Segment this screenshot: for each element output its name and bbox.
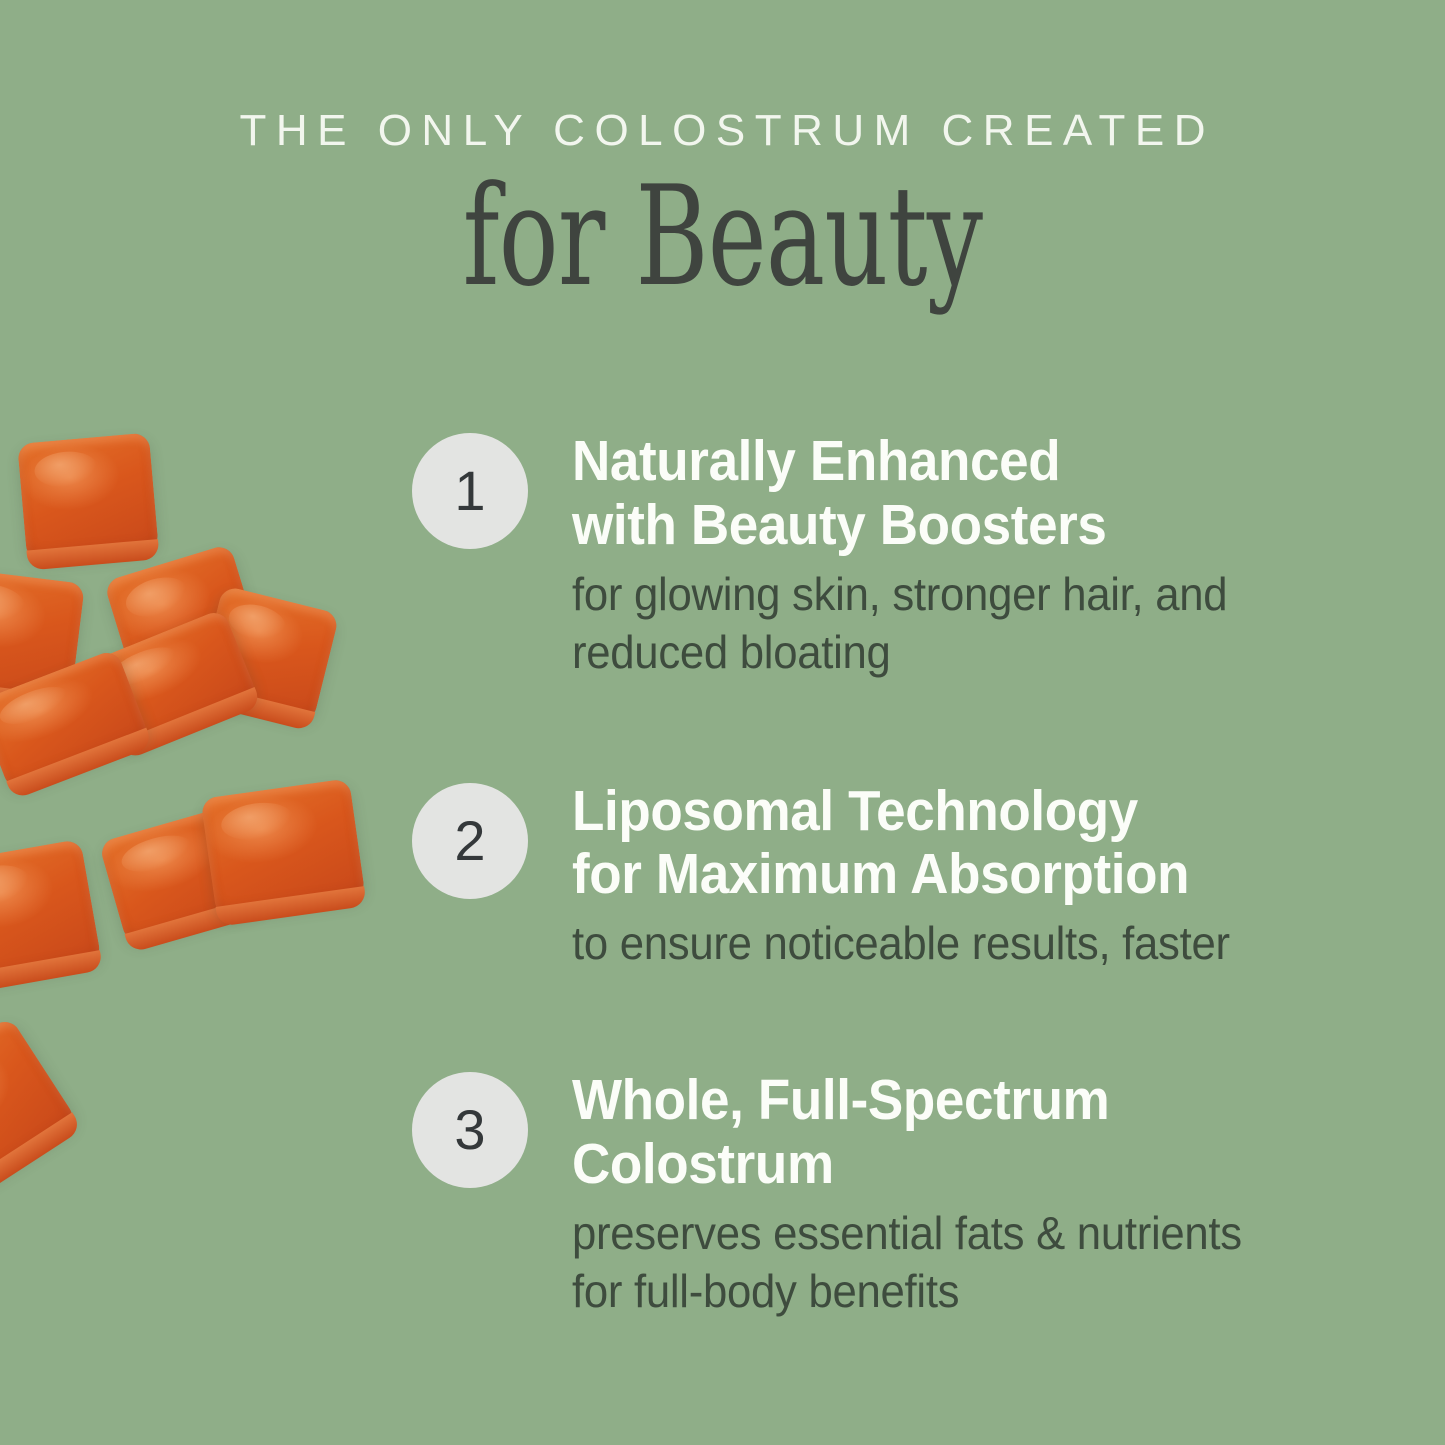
benefit-title: Naturally Enhanced with Beauty Boosters	[572, 430, 1316, 558]
benefit-item-3: 3 Whole, Full-Spectrum Colostrum preserv…	[412, 1069, 1372, 1321]
benefit-number-badge: 1	[412, 433, 528, 549]
benefit-subtitle: preserves essential fats & nutrients for…	[572, 1205, 1332, 1321]
gummy-piece	[200, 778, 365, 918]
benefit-title: Liposomal Technology for Maximum Absorpt…	[572, 780, 1316, 908]
gummy-piece	[0, 839, 102, 985]
benefits-list: 1 Naturally Enhanced with Beauty Booster…	[412, 430, 1372, 1321]
page-title: for Beauty	[202, 168, 1242, 306]
benefit-number-badge: 2	[412, 783, 528, 899]
benefit-number-badge: 3	[412, 1072, 528, 1188]
gummy-piece	[0, 1016, 78, 1190]
promotional-poster: THE ONLY COLOSTRUM CREATED for Beauty 1 …	[0, 0, 1445, 1445]
benefit-item-2: 2 Liposomal Technology for Maximum Absor…	[412, 780, 1372, 974]
benefit-item-1: 1 Naturally Enhanced with Beauty Booster…	[412, 430, 1372, 682]
gummy-piece	[17, 432, 159, 561]
eyebrow-text: THE ONLY COLOSTRUM CREATED	[0, 108, 1445, 154]
benefit-subtitle: to ensure noticeable results, faster	[572, 915, 1332, 973]
benefit-subtitle: for glowing skin, stronger hair, and red…	[572, 566, 1332, 682]
gummies-product-image	[0, 420, 420, 1280]
benefit-title: Whole, Full-Spectrum Colostrum	[572, 1069, 1316, 1197]
